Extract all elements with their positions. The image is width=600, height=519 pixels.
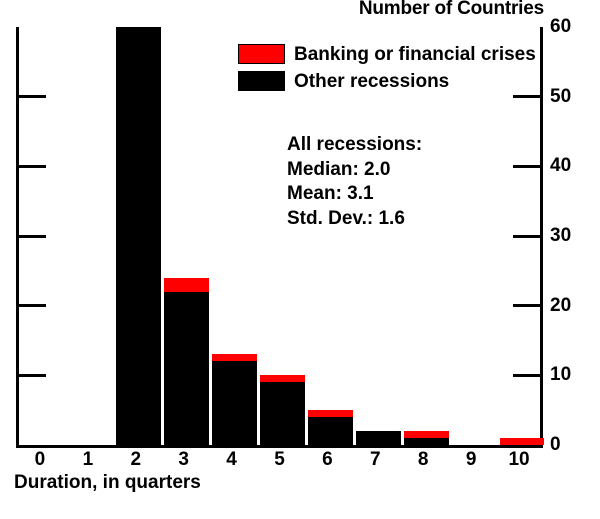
bar-segment-crisis [500, 438, 545, 445]
y-tick-mark-40 [16, 165, 46, 168]
annotation-line-mean: Mean: 3.1 [287, 182, 422, 207]
y-tick-label-0: 0 [550, 434, 561, 456]
y-tick-label-40: 40 [550, 155, 571, 177]
chart-legend: Banking or financial crises Other recess… [238, 42, 536, 93]
bar-duration-6 [308, 410, 353, 445]
y-tick-label-50: 50 [550, 86, 571, 108]
x-tick-label-6: 6 [322, 449, 333, 471]
chart-title: Number of Countries [359, 0, 544, 20]
y-tick-mark-30 [513, 235, 543, 238]
bar-segment-other [356, 431, 401, 445]
x-axis-title: Duration, in quarters [14, 472, 201, 494]
legend-item-other: Other recessions [238, 69, 536, 93]
bar-duration-10 [500, 438, 545, 445]
x-tick-label-9: 9 [466, 449, 477, 471]
y-tick-label-20: 20 [550, 295, 571, 317]
bar-segment-other [404, 438, 449, 445]
bar-segment-other [116, 27, 161, 445]
legend-label-crisis: Banking or financial crises [294, 45, 536, 64]
x-tick-label-2: 2 [130, 449, 141, 471]
y-tick-mark-20 [16, 304, 46, 307]
legend-swatch-crisis-icon [238, 44, 285, 64]
bar-duration-8 [404, 431, 449, 445]
y-tick-mark-10 [513, 374, 543, 377]
chart-figure: Number of Countries 01020304050600123456… [0, 0, 600, 519]
annotation-line-header: All recessions: [287, 133, 422, 158]
x-axis-line [16, 445, 543, 448]
y-tick-mark-30 [16, 235, 46, 238]
y-tick-mark-50 [513, 95, 543, 98]
annotation-line-median: Median: 2.0 [287, 158, 422, 183]
legend-swatch-other-icon [238, 71, 285, 91]
legend-label-other: Other recessions [294, 72, 449, 91]
y-tick-mark-20 [513, 304, 543, 307]
y-tick-mark-10 [16, 374, 46, 377]
bar-segment-other [260, 382, 305, 445]
x-tick-label-5: 5 [274, 449, 285, 471]
bar-duration-7 [356, 431, 401, 445]
y-tick-label-30: 30 [550, 225, 571, 247]
bar-segment-crisis [212, 354, 257, 361]
bar-segment-crisis [404, 431, 449, 438]
bar-segment-other [212, 361, 257, 445]
x-tick-label-7: 7 [370, 449, 381, 471]
y-tick-label-10: 10 [550, 364, 571, 386]
x-tick-label-8: 8 [418, 449, 429, 471]
bar-segment-crisis [260, 375, 305, 382]
annotation-line-stddev: Std. Dev.: 1.6 [287, 207, 422, 232]
bar-duration-2 [116, 27, 161, 445]
x-tick-label-0: 0 [35, 449, 46, 471]
legend-item-crisis: Banking or financial crises [238, 42, 536, 66]
x-tick-label-3: 3 [178, 449, 189, 471]
x-tick-label-1: 1 [83, 449, 94, 471]
bar-segment-other [308, 417, 353, 445]
y-tick-mark-50 [16, 95, 46, 98]
bar-segment-crisis [164, 278, 209, 292]
x-tick-label-10: 10 [508, 449, 529, 471]
bar-segment-other [164, 292, 209, 445]
bar-duration-3 [164, 278, 209, 445]
bar-duration-4 [212, 354, 257, 445]
bar-duration-5 [260, 375, 305, 445]
x-tick-label-4: 4 [226, 449, 237, 471]
y-tick-mark-40 [513, 165, 543, 168]
y-tick-label-60: 60 [550, 16, 571, 38]
statistics-annotation: All recessions: Median: 2.0 Mean: 3.1 St… [287, 133, 422, 232]
bar-segment-crisis [308, 410, 353, 417]
